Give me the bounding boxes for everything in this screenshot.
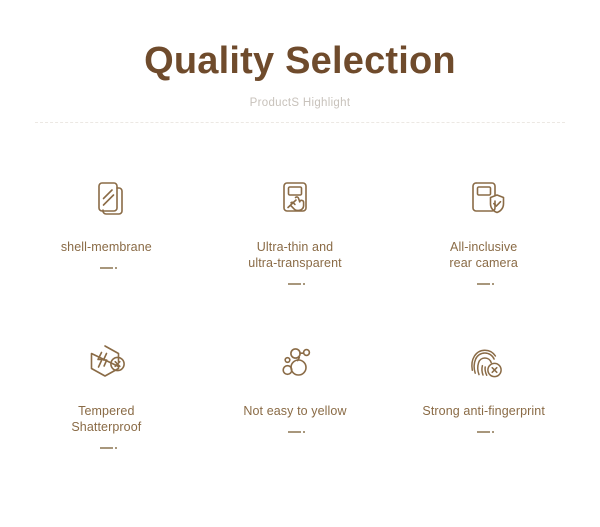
feature-grid: shell-membrane Ultra-thin and ultra-tran… xyxy=(0,165,600,449)
feature-label: Tempered Shatterproof xyxy=(71,403,141,435)
feature-label: All-inclusive rear camera xyxy=(449,239,517,271)
phone-touch-icon xyxy=(263,165,327,229)
feature-item: shell-membrane xyxy=(12,165,201,285)
feature-item: All-inclusive rear camera xyxy=(389,165,578,285)
feature-dash xyxy=(288,431,301,433)
feature-label: Strong anti-fingerprint xyxy=(422,403,545,419)
fingerprint-blocked-icon xyxy=(452,329,516,393)
feature-dash xyxy=(100,267,113,269)
phone-shield-check-icon xyxy=(452,165,516,229)
hexagon-crack-blocked-icon xyxy=(74,329,138,393)
header-divider xyxy=(35,122,565,123)
feature-item: Strong anti-fingerprint xyxy=(389,329,578,449)
feature-label: Ultra-thin and ultra-transparent xyxy=(248,239,341,271)
page-header: Quality Selection ProductS Highlight xyxy=(0,0,600,123)
feature-item: Not easy to yellow xyxy=(201,329,390,449)
feature-dash xyxy=(477,283,490,285)
quality-selection-page: Quality Selection ProductS Highlight she… xyxy=(0,0,600,527)
feature-item: Tempered Shatterproof xyxy=(12,329,201,449)
layered-films-icon xyxy=(74,165,138,229)
feature-dash xyxy=(288,283,301,285)
page-title: Quality Selection xyxy=(0,38,600,84)
molecule-cluster-icon xyxy=(263,329,327,393)
feature-dash xyxy=(100,447,113,449)
feature-label: Not easy to yellow xyxy=(243,403,346,419)
page-subtitle: ProductS Highlight xyxy=(0,96,600,110)
feature-item: Ultra-thin and ultra-transparent xyxy=(201,165,390,285)
feature-dash xyxy=(477,431,490,433)
feature-label: shell-membrane xyxy=(61,239,152,255)
